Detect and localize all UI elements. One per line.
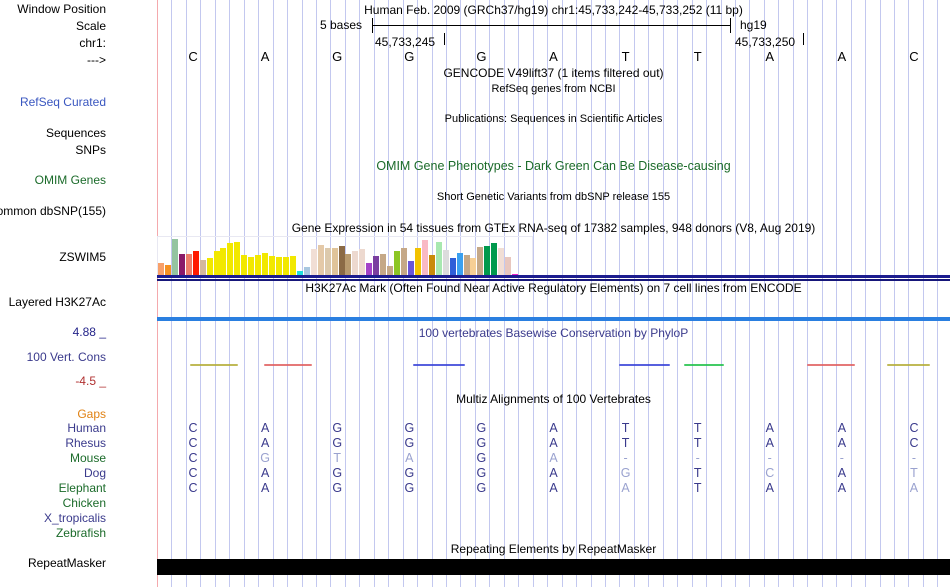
- multiz-base: -: [832, 451, 852, 465]
- multiz-base: T: [616, 436, 636, 450]
- gencode-track-title: GENCODE V49lift37 (1 items filtered out): [157, 67, 950, 79]
- multiz-base: G: [327, 481, 347, 495]
- gtex-tissue-bar[interactable]: [255, 255, 261, 276]
- species-label-mouse[interactable]: Mouse: [70, 452, 106, 464]
- sequences-label[interactable]: Sequences: [46, 127, 106, 139]
- phylop-min-label: -4.5 _: [75, 375, 106, 387]
- multiz-base: A: [544, 436, 564, 450]
- sequence-base: G: [471, 49, 491, 64]
- multiz-base: T: [688, 466, 708, 480]
- sequence-base: A: [832, 49, 852, 64]
- phylop-score-mark: [413, 364, 465, 366]
- gtex-tissue-bar[interactable]: [318, 245, 324, 276]
- layered-h3k27ac-label[interactable]: Layered H3K27Ac: [9, 296, 106, 308]
- gtex-tissue-bar[interactable]: [269, 256, 275, 276]
- gtex-tissue-bar[interactable]: [345, 254, 351, 276]
- gtex-tissue-bar[interactable]: [450, 258, 456, 276]
- scale-label: Scale: [76, 20, 106, 32]
- multiz-base: -: [688, 451, 708, 465]
- gtex-tissue-bar[interactable]: [332, 248, 338, 276]
- multiz-base: G: [399, 436, 419, 450]
- repeatmasker-track-title: Repeating Elements by RepeatMasker: [157, 543, 950, 555]
- gtex-tissue-bar[interactable]: [498, 248, 504, 277]
- multiz-base: A: [255, 481, 275, 495]
- multiz-base: C: [904, 436, 924, 450]
- multiz-base: G: [616, 466, 636, 480]
- chromosome-label: chr1:: [79, 37, 106, 49]
- multiz-base: A: [255, 466, 275, 480]
- sequence-base: A: [760, 49, 780, 64]
- publications-track-title: Publications: Sequences in Scientific Ar…: [157, 113, 950, 125]
- coordinate-right-tick: [803, 33, 804, 45]
- multiz-base: A: [255, 421, 275, 435]
- multiz-base: G: [471, 451, 491, 465]
- gtex-tissue-bar[interactable]: [359, 249, 365, 276]
- gtex-tissue-bar[interactable]: [491, 243, 497, 276]
- gtex-tissue-bar[interactable]: [505, 257, 511, 276]
- sequence-base: G: [327, 49, 347, 64]
- gtex-tissue-bar[interactable]: [408, 261, 414, 276]
- phylop-score-mark: [190, 364, 238, 366]
- gtex-gene-label[interactable]: ZSWIM5: [59, 251, 106, 263]
- multiz-base: G: [327, 436, 347, 450]
- multiz-base: G: [471, 481, 491, 495]
- multiz-base: A: [255, 436, 275, 450]
- gtex-tissue-bar[interactable]: [276, 257, 282, 276]
- scale-tick-left: [372, 18, 373, 33]
- multiz-base: A: [904, 481, 924, 495]
- database-name: hg19: [740, 18, 767, 32]
- multiz-base: A: [832, 481, 852, 495]
- multiz-track-title: Multiz Alignments of 100 Vertebrates: [157, 393, 950, 405]
- multiz-base: T: [904, 466, 924, 480]
- gtex-tissue-bar[interactable]: [193, 251, 199, 276]
- phylop-score-mark: [684, 364, 724, 366]
- multiz-base: A: [544, 466, 564, 480]
- species-label-human[interactable]: Human: [67, 422, 106, 434]
- gtex-tissue-bar[interactable]: [186, 254, 192, 276]
- multiz-base: G: [471, 466, 491, 480]
- gtex-tissue-bar[interactable]: [339, 246, 345, 276]
- multiz-base: C: [183, 481, 203, 495]
- gtex-tissue-bar[interactable]: [241, 255, 247, 276]
- sequence-base: C: [904, 49, 924, 64]
- gtex-tissue-bar[interactable]: [470, 258, 476, 276]
- gtex-tissue-bar[interactable]: [394, 251, 400, 276]
- gtex-tissue-bar[interactable]: [214, 251, 220, 276]
- sequence-base: G: [399, 49, 419, 64]
- gtex-tissue-bar[interactable]: [179, 254, 185, 276]
- scale-bar-line: [372, 25, 731, 26]
- multiz-base: T: [616, 421, 636, 435]
- gtex-tissue-bar[interactable]: [283, 257, 289, 276]
- repeatmasker-label[interactable]: RepeatMasker: [28, 557, 106, 569]
- window-position-label: Window Position: [17, 3, 106, 15]
- multiz-base: C: [904, 421, 924, 435]
- scale-bar-text: 5 bases: [320, 18, 362, 32]
- sequence-base: T: [616, 49, 636, 64]
- gtex-tissue-bar[interactable]: [415, 248, 421, 277]
- genome-browser-canvas: Window Position Human Feb. 2009 (GRCh37/…: [0, 0, 950, 587]
- multiz-base: G: [471, 421, 491, 435]
- species-label-zebrafish[interactable]: Zebrafish: [56, 527, 106, 539]
- phylop-max-label: 4.88 _: [73, 326, 106, 338]
- multiz-base: A: [832, 421, 852, 435]
- gtex-tissue-bar[interactable]: [248, 257, 254, 276]
- multiz-base: C: [183, 451, 203, 465]
- gtex-tissue-bar[interactable]: [366, 263, 372, 276]
- gtex-tissue-bar[interactable]: [200, 260, 206, 276]
- common-dbsnp-label[interactable]: Common dbSNP(155): [0, 205, 106, 217]
- gtex-track-title: Gene Expression in 54 tissues from GTEx …: [157, 222, 950, 234]
- omim-track-title: OMIM Gene Phenotypes - Dark Green Can Be…: [157, 160, 950, 172]
- multiz-base: T: [688, 481, 708, 495]
- sequence-base: C: [183, 49, 203, 64]
- repeatmasker-feature-bar[interactable]: [157, 559, 950, 575]
- multiz-base: T: [688, 436, 708, 450]
- phylop-score-mark: [887, 364, 931, 366]
- gaps-label: Gaps: [77, 408, 106, 420]
- h3k27ac-track-title: H3K27Ac Mark (Often Found Near Active Re…: [157, 282, 950, 294]
- gtex-tissue-bar[interactable]: [401, 248, 407, 277]
- gtex-tissue-bar[interactable]: [234, 242, 240, 276]
- scale-tick-right: [730, 18, 731, 33]
- phylop-score-mark: [619, 364, 671, 366]
- multiz-base: A: [544, 451, 564, 465]
- species-label-chicken[interactable]: Chicken: [63, 497, 106, 509]
- gtex-tissue-bar[interactable]: [422, 240, 428, 276]
- phylop-score-mark: [807, 364, 855, 366]
- gtex-tissue-bar[interactable]: [457, 253, 463, 276]
- multiz-base: A: [760, 481, 780, 495]
- gtex-tissue-bar[interactable]: [373, 256, 379, 276]
- gtex-tissue-bar[interactable]: [429, 255, 435, 276]
- gtex-expression-barchart[interactable]: [157, 236, 533, 276]
- multiz-base: A: [399, 451, 419, 465]
- gtex-tissue-bar[interactable]: [464, 255, 470, 276]
- gtex-tissue-bar[interactable]: [380, 254, 386, 276]
- multiz-base: A: [544, 421, 564, 435]
- assembly-position-title: Human Feb. 2009 (GRCh37/hg19) chr1:45,73…: [157, 3, 950, 17]
- phylop-score-mark: [264, 364, 312, 366]
- multiz-base: T: [327, 451, 347, 465]
- species-label-rhesus[interactable]: Rhesus: [65, 437, 106, 449]
- multiz-base: A: [832, 466, 852, 480]
- multiz-base: G: [327, 421, 347, 435]
- gtex-tissue-bar[interactable]: [172, 239, 178, 276]
- multiz-base: G: [399, 421, 419, 435]
- multiz-base: A: [616, 481, 636, 495]
- gtex-tissue-bar[interactable]: [477, 247, 483, 276]
- multiz-base: G: [327, 466, 347, 480]
- species-label-elephant[interactable]: Elephant: [59, 482, 106, 494]
- species-label-x_tropicalis[interactable]: X_tropicalis: [44, 512, 106, 524]
- gtex-tissue-bar[interactable]: [484, 246, 490, 276]
- gtex-baseline: [157, 275, 950, 278]
- multiz-base: C: [183, 421, 203, 435]
- snps-label[interactable]: SNPs: [75, 144, 106, 156]
- gtex-tissue-bar[interactable]: [220, 248, 226, 277]
- sequence-base: A: [255, 49, 275, 64]
- multiz-base: A: [544, 481, 564, 495]
- multiz-base: C: [183, 466, 203, 480]
- multiz-base: T: [688, 421, 708, 435]
- multiz-base: -: [616, 451, 636, 465]
- sequence-base: T: [688, 49, 708, 64]
- omim-genes-label[interactable]: OMIM Genes: [35, 174, 106, 186]
- multiz-base: A: [760, 421, 780, 435]
- species-label-dog[interactable]: Dog: [84, 467, 106, 479]
- phylop-track-title: 100 vertebrates Basewise Conservation by…: [157, 327, 950, 339]
- multiz-base: C: [183, 436, 203, 450]
- multiz-base: C: [760, 466, 780, 480]
- multiz-base: A: [760, 436, 780, 450]
- gtex-tissue-bar[interactable]: [311, 249, 317, 276]
- h3k27ac-bottom-border: [157, 317, 950, 321]
- gtex-tissue-bar[interactable]: [207, 258, 213, 276]
- gtex-tissue-bar[interactable]: [290, 256, 296, 276]
- coordinate-right: 45,733,250: [735, 35, 795, 49]
- multiz-base: G: [399, 466, 419, 480]
- multiz-base: G: [255, 451, 275, 465]
- dbsnp-track-title: Short Genetic Variants from dbSNP releas…: [157, 191, 950, 203]
- gtex-tissue-bar[interactable]: [352, 251, 358, 276]
- phylop-track-label[interactable]: 100 Vert. Cons: [27, 351, 106, 363]
- refseq-curated-label[interactable]: RefSeq Curated: [20, 96, 106, 108]
- coordinate-left: 45,733,245: [375, 35, 435, 49]
- gtex-tissue-bar[interactable]: [227, 243, 233, 276]
- refseq-track-title: RefSeq genes from NCBI: [157, 83, 950, 95]
- multiz-base: -: [904, 451, 924, 465]
- gtex-tissue-bar[interactable]: [325, 248, 331, 276]
- multiz-base: A: [832, 436, 852, 450]
- gtex-tissue-bar[interactable]: [436, 242, 442, 276]
- multiz-base: -: [760, 451, 780, 465]
- strand-arrow-label: --->: [87, 54, 106, 66]
- multiz-base: G: [471, 436, 491, 450]
- gtex-tissue-bar[interactable]: [158, 263, 164, 276]
- gtex-tissue-bar[interactable]: [443, 250, 449, 276]
- gtex-tissue-bar[interactable]: [262, 253, 268, 276]
- coordinate-left-tick: [444, 33, 445, 45]
- sequence-base: A: [544, 49, 564, 64]
- multiz-base: G: [399, 481, 419, 495]
